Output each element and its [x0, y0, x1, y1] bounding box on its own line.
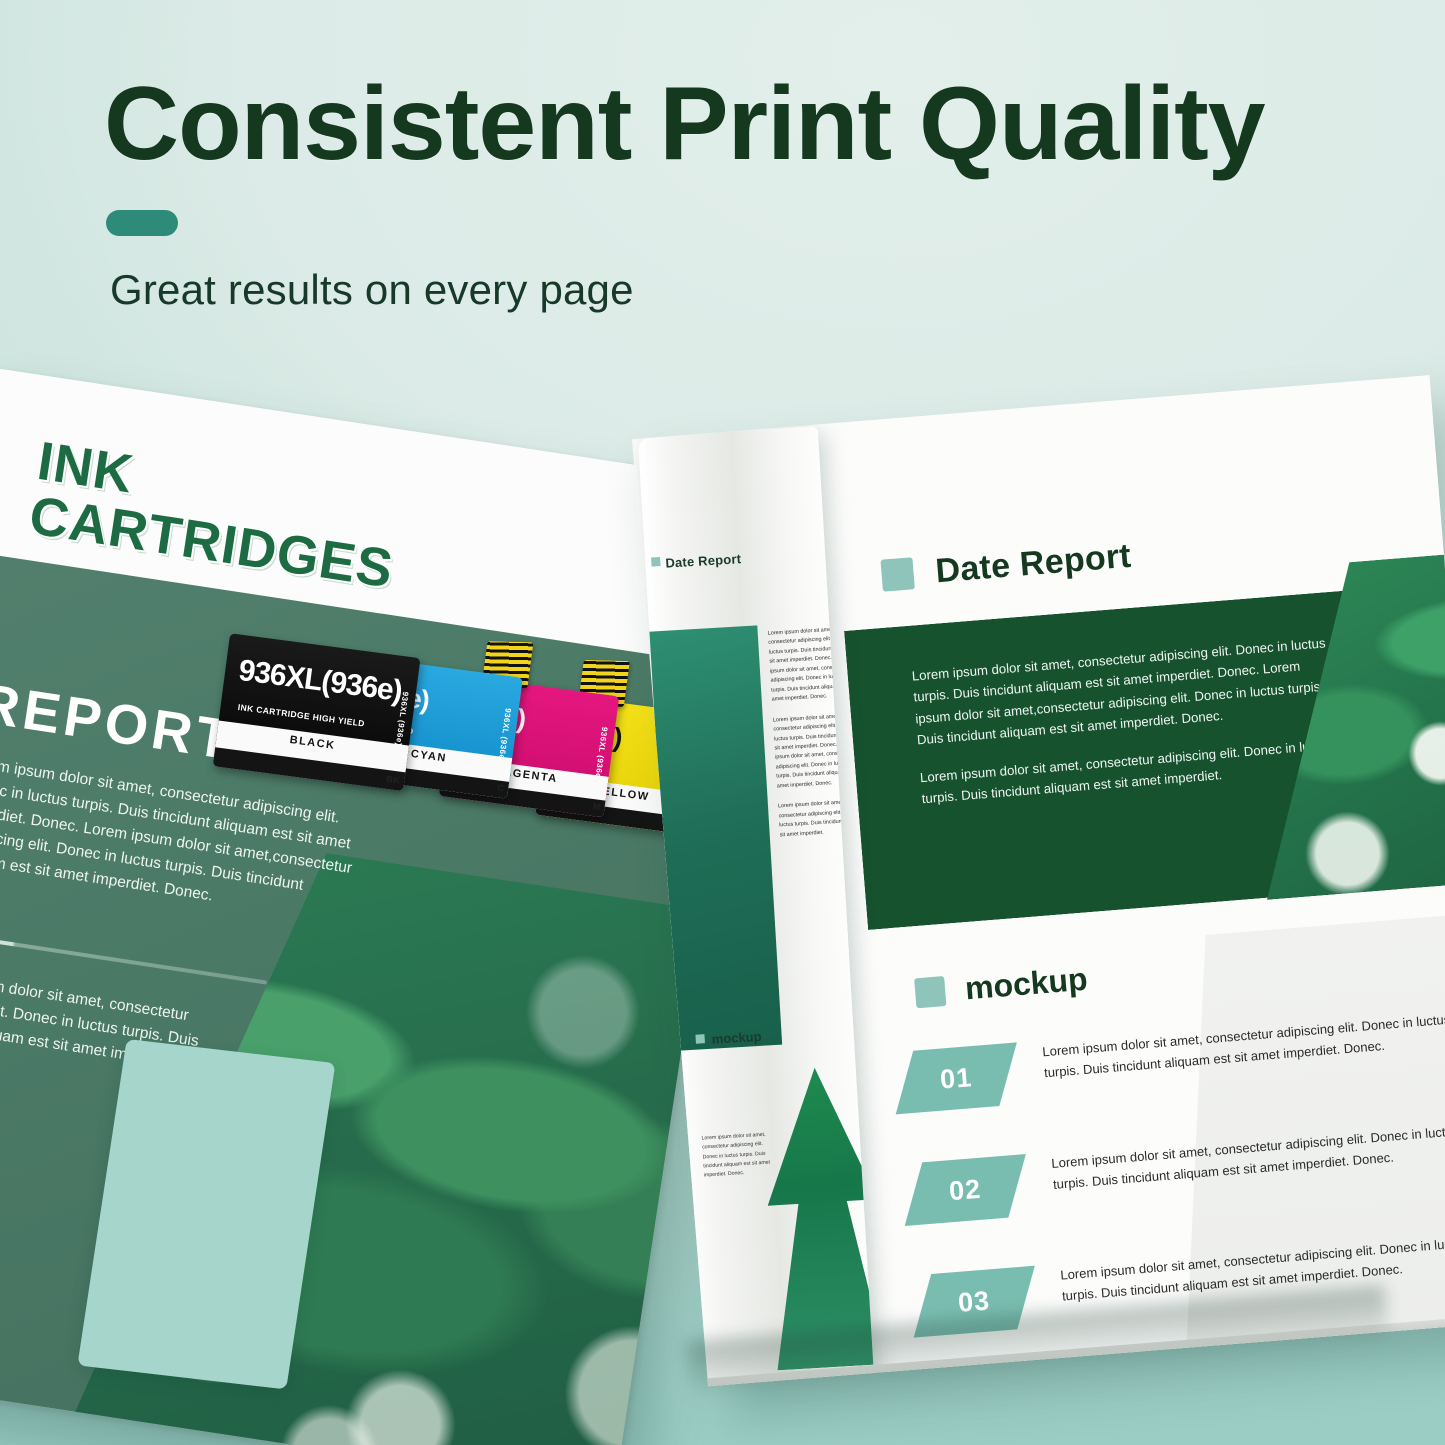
page-subtitle: Great results on every page [110, 266, 634, 314]
green-panel-text: Lorem ipsum dolor sit amet, consectetur … [911, 632, 1342, 825]
date-report-heading: Date Report [934, 537, 1132, 592]
curled-mockup-heading: mockup [711, 1029, 762, 1047]
right-brochure: Date Report Lorem ipsum dolor sit amet, … [572, 349, 1445, 1395]
curled-mockup-text: Lorem ipsum dolor sit amet, consectetur … [701, 1130, 776, 1181]
right-brochure-page: Date Report Lorem ipsum dolor sit amet, … [632, 375, 1445, 1386]
mockup-number: 01 [939, 1062, 973, 1095]
cartridge-side-label: 936XL (936e) [497, 707, 513, 762]
square-bullet-icon [880, 557, 914, 591]
square-bullet-icon [695, 1034, 705, 1044]
right-page-content: Date Report Lorem ipsum dolor sit amet, … [807, 375, 1445, 1382]
cartridge-color-code: BK [386, 774, 401, 786]
ink-cartridge-black: 936XL(936e) INK CARTRIDGE HIGH YIELD 936… [213, 633, 421, 791]
cartridge-color-code: M [592, 801, 601, 812]
green-paragraph-1: Lorem ipsum dolor sit amet, consectetur … [911, 632, 1337, 751]
curled-page-photo [639, 625, 782, 1051]
cartridge-body: 936XL(936e) INK CARTRIDGE HIGH YIELD 936… [213, 633, 421, 791]
mockup-heading: mockup [964, 961, 1089, 1008]
header-block: Consistent Print Quality [104, 72, 1394, 176]
cartridge-spec-label: INK CARTRIDGE HIGH YIELD [237, 702, 365, 729]
accent-pill-divider [106, 210, 178, 236]
curled-page-tree-graphic [760, 1064, 875, 1370]
mockup-number: 03 [957, 1285, 991, 1318]
page-title: Consistent Print Quality [104, 72, 1394, 176]
cartridge-color-code: C [497, 782, 505, 793]
square-bullet-icon [914, 976, 946, 1008]
cartridge-footer: BLACK BK [213, 721, 409, 791]
curled-page-heading: Date Report [665, 551, 742, 570]
mockup-number: 02 [948, 1173, 982, 1206]
cartridge-model-label: 936XL(936e) [237, 654, 404, 709]
square-bullet-icon [651, 557, 661, 567]
promo-banner: Consistent Print Quality Great results o… [0, 0, 1445, 1445]
mockup-number-badge: 02 [905, 1154, 1026, 1226]
mockup-number-badge: 01 [896, 1042, 1017, 1114]
